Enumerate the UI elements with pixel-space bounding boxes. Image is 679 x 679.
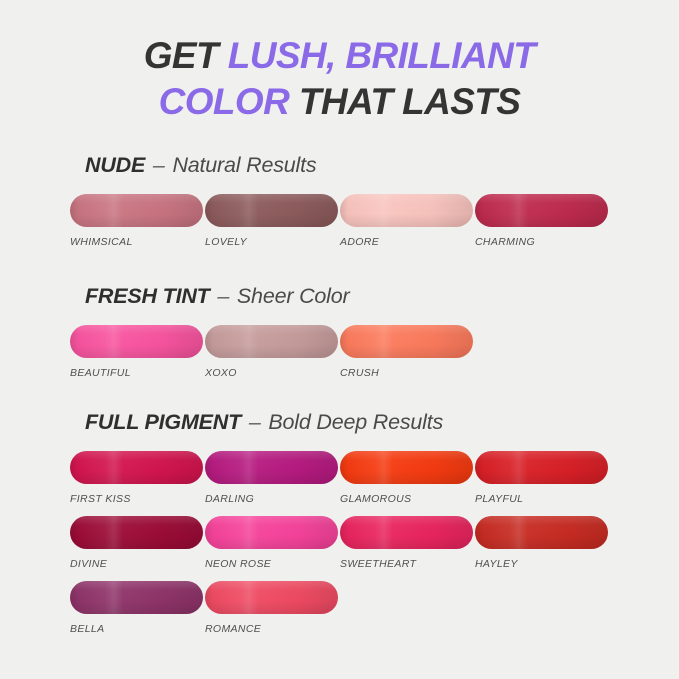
section-full-pigment: FULL PIGMENT – Bold Deep ResultsFIRST KI… xyxy=(0,409,679,646)
swatch-color-chip[interactable] xyxy=(340,451,473,484)
swatch-label: SWEETHEART xyxy=(340,558,473,570)
swatch-row: DIVINENEON ROSESWEETHEARTHAYLEY xyxy=(70,516,679,581)
section-subtitle: Natural Results xyxy=(172,153,316,177)
swatch-label: BEAUTIFUL xyxy=(70,367,203,379)
swatch-label: GLAMOROUS xyxy=(340,493,473,505)
swatch-label: CRUSH xyxy=(340,367,473,379)
swatch-row: WHIMSICALLOVELYADORECHARMING xyxy=(70,194,679,259)
swatch-playful[interactable]: PLAYFUL xyxy=(475,451,608,505)
swatch-color-chip[interactable] xyxy=(70,194,203,227)
section-heading: FULL PIGMENT – Bold Deep Results xyxy=(85,409,679,435)
swatch-romance[interactable]: ROMANCE xyxy=(205,581,338,635)
swatch-adore[interactable]: ADORE xyxy=(340,194,473,248)
swatch-color-chip[interactable] xyxy=(475,516,608,549)
swatch-lovely[interactable]: LOVELY xyxy=(205,194,338,248)
swatch-divine[interactable]: DIVINE xyxy=(70,516,203,570)
swatch-label: DIVINE xyxy=(70,558,203,570)
swatch-color-chip[interactable] xyxy=(70,516,203,549)
swatch-color-chip[interactable] xyxy=(205,581,338,614)
swatch-color-chip[interactable] xyxy=(70,581,203,614)
swatch-color-chip[interactable] xyxy=(205,325,338,358)
swatch-color-chip[interactable] xyxy=(205,516,338,549)
swatch-color-chip[interactable] xyxy=(340,194,473,227)
swatch-label: BELLA xyxy=(70,623,203,635)
title-line-1: GET LUSH, BRILLIANT xyxy=(0,33,679,79)
section-name: FULL PIGMENT xyxy=(85,410,241,434)
swatch-neon-rose[interactable]: NEON ROSE xyxy=(205,516,338,570)
swatch-row: BELLAROMANCE xyxy=(70,581,679,646)
swatch-row: BEAUTIFULXOXOCRUSH xyxy=(70,325,679,390)
swatch-grid: BEAUTIFULXOXOCRUSH xyxy=(0,325,679,390)
swatch-grid: FIRST KISSDARLINGGLAMOROUSPLAYFULDIVINEN… xyxy=(0,451,679,646)
section-subtitle: Sheer Color xyxy=(237,284,350,308)
title-lush-brilliant: LUSH, BRILLIANT xyxy=(228,35,536,76)
swatch-label: CHARMING xyxy=(475,236,608,248)
section-name: FRESH TINT xyxy=(85,284,210,308)
swatch-label: NEON ROSE xyxy=(205,558,338,570)
swatch-color-chip[interactable] xyxy=(205,194,338,227)
title-get: GET xyxy=(144,35,228,76)
swatch-label: FIRST KISS xyxy=(70,493,203,505)
section-dash: – xyxy=(210,284,237,308)
lipstick-shade-chart: GET LUSH, BRILLIANT COLOR THAT LASTS NUD… xyxy=(0,0,679,679)
swatch-color-chip[interactable] xyxy=(340,516,473,549)
swatch-whimsical[interactable]: WHIMSICAL xyxy=(70,194,203,248)
section-dash: – xyxy=(241,410,268,434)
section-heading: NUDE – Natural Results xyxy=(85,152,679,178)
swatch-label: XOXO xyxy=(205,367,338,379)
swatch-color-chip[interactable] xyxy=(475,451,608,484)
section-nude: NUDE – Natural ResultsWHIMSICALLOVELYADO… xyxy=(0,152,679,259)
swatch-color-chip[interactable] xyxy=(70,325,203,358)
title-that-lasts: THAT LASTS xyxy=(299,81,520,122)
swatch-row: FIRST KISSDARLINGGLAMOROUSPLAYFUL xyxy=(70,451,679,516)
swatch-sweetheart[interactable]: SWEETHEART xyxy=(340,516,473,570)
section-heading: FRESH TINT – Sheer Color xyxy=(85,283,679,309)
swatch-crush[interactable]: CRUSH xyxy=(340,325,473,379)
swatch-color-chip[interactable] xyxy=(70,451,203,484)
swatch-darling[interactable]: DARLING xyxy=(205,451,338,505)
swatch-label: ADORE xyxy=(340,236,473,248)
section-subtitle: Bold Deep Results xyxy=(268,410,443,434)
swatch-label: LOVELY xyxy=(205,236,338,248)
swatch-label: HAYLEY xyxy=(475,558,608,570)
section-fresh-tint: FRESH TINT – Sheer ColorBEAUTIFULXOXOCRU… xyxy=(0,283,679,390)
title-color: COLOR xyxy=(159,81,299,122)
swatch-color-chip[interactable] xyxy=(340,325,473,358)
swatch-beautiful[interactable]: BEAUTIFUL xyxy=(70,325,203,379)
swatch-color-chip[interactable] xyxy=(205,451,338,484)
swatch-label: ROMANCE xyxy=(205,623,338,635)
swatch-label: DARLING xyxy=(205,493,338,505)
swatch-label: PLAYFUL xyxy=(475,493,608,505)
section-dash: – xyxy=(145,153,172,177)
swatch-charming[interactable]: CHARMING xyxy=(475,194,608,248)
swatch-hayley[interactable]: HAYLEY xyxy=(475,516,608,570)
section-name: NUDE xyxy=(85,153,145,177)
swatch-glamorous[interactable]: GLAMOROUS xyxy=(340,451,473,505)
page-title: GET LUSH, BRILLIANT COLOR THAT LASTS xyxy=(0,33,679,125)
swatch-xoxo[interactable]: XOXO xyxy=(205,325,338,379)
swatch-grid: WHIMSICALLOVELYADORECHARMING xyxy=(0,194,679,259)
title-line-2: COLOR THAT LASTS xyxy=(0,79,679,125)
swatch-first-kiss[interactable]: FIRST KISS xyxy=(70,451,203,505)
swatch-bella[interactable]: BELLA xyxy=(70,581,203,635)
swatch-color-chip[interactable] xyxy=(475,194,608,227)
swatch-label: WHIMSICAL xyxy=(70,236,203,248)
